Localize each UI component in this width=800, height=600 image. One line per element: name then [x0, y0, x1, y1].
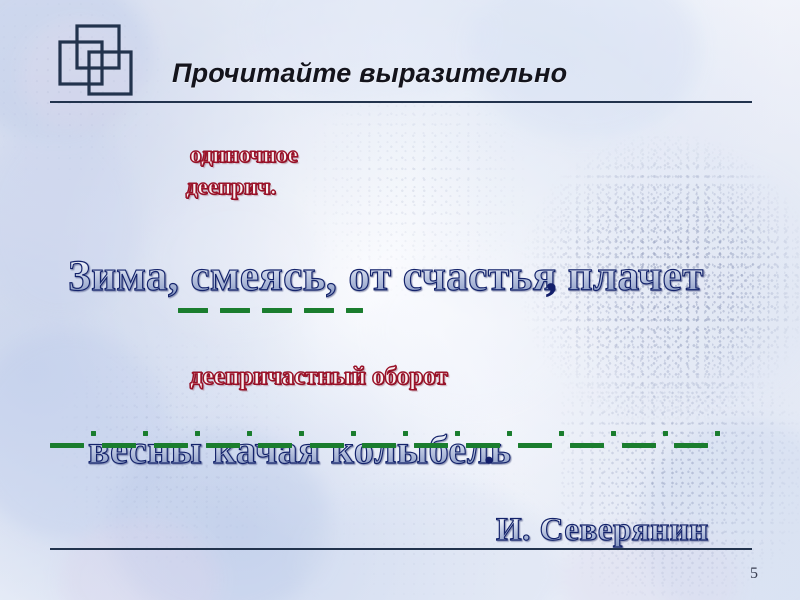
gerund-dash-underline-line1 [178, 308, 363, 313]
overlapping-squares-logo-icon [58, 24, 150, 98]
annotation-gerund-phrase: деепричастный оборот [190, 363, 448, 391]
slide-canvas: Прочитайте выразительно одиночное деепри… [0, 0, 800, 600]
poem-line-1: Зима, смеясь, от счастья плачет [68, 252, 704, 301]
header-divider-rule [50, 101, 752, 103]
annotation-single-gerund-line2: дееприч. [186, 174, 276, 200]
annotation-single-gerund-line1: одиночное [190, 142, 298, 168]
page-number: 5 [750, 565, 758, 583]
footer-divider-rule [50, 548, 752, 550]
gerund-dash-dot-line2-dashes [50, 443, 740, 448]
gerund-dash-dot-line2-dots [50, 431, 740, 436]
poem-line-1-comma: , [546, 252, 557, 301]
page-title: Прочитайте выразительно [172, 58, 567, 89]
poem-author: И. Северянин [496, 512, 709, 549]
